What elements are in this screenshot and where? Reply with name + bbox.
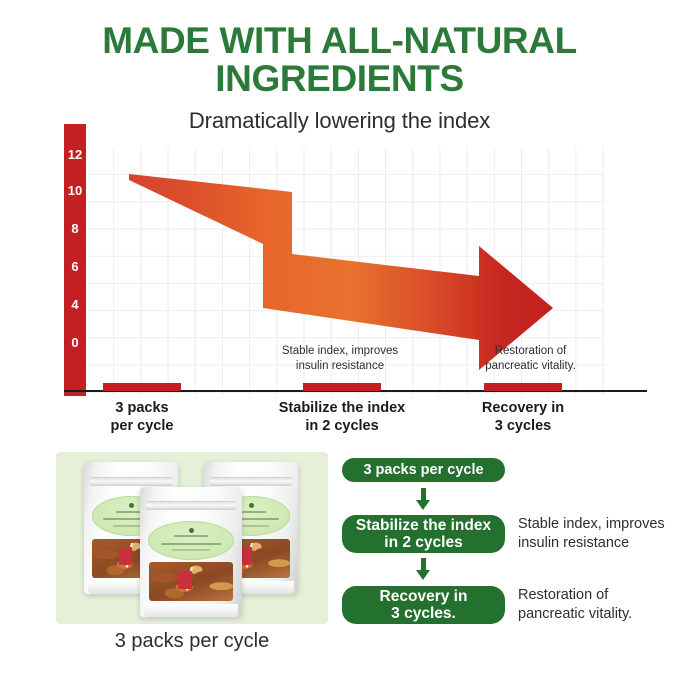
x-tick-mark-3: [484, 383, 562, 391]
flow-step-3-label-line2: 3 cycles.: [391, 605, 456, 622]
x-label-2-line1: Stabilize the index: [279, 400, 406, 416]
flow-step-3-label: Recovery in 3 cycles.: [380, 588, 468, 623]
y-tick-0: 0: [64, 336, 86, 349]
page-title-line2: INGREDIENTS: [36, 60, 643, 98]
flow-note-3-line2: pancreatic vitality.: [518, 606, 632, 622]
page-title-line1: MADE WITH ALL-NATURAL: [102, 20, 577, 61]
chart-annotation-1-line1: Stable index, improves: [282, 345, 398, 357]
brand-logo-icon: [129, 503, 134, 508]
flow-step-3[interactable]: Recovery in 3 cycles.: [342, 586, 505, 624]
arrow-head: [416, 570, 430, 580]
flow-note-2: Stable index, improves insulin resistanc…: [518, 515, 668, 554]
y-tick-4: 4: [64, 298, 86, 311]
index-chart: 12 10 8 6 4 0: [0, 118, 679, 438]
arrow-head: [416, 500, 430, 510]
chart-annotation-1: Stable index, improves insulin resistanc…: [245, 344, 435, 373]
pouch-label-weightline: [172, 549, 211, 551]
x-label-1: 3 packs per cycle: [82, 400, 202, 435]
x-label-1-line1: 3 packs: [115, 400, 168, 416]
flow-step-2[interactable]: Stabilize the index in 2 cycles: [342, 515, 505, 553]
flow-arrow-down-icon-1: [416, 488, 431, 510]
pouch-label: [148, 521, 234, 560]
x-tick-mark-2: [303, 383, 381, 391]
product-pouch-front: [140, 487, 242, 617]
pouch-label-brandline: [174, 535, 208, 537]
pouch-zip-seal: [90, 477, 173, 486]
chart-annotation-2-line1: Restoration of: [495, 345, 567, 357]
flow-step-1[interactable]: 3 packs per cycle: [342, 458, 505, 482]
flow-note-3-line1: Restoration of: [518, 587, 608, 603]
pouch-zip-seal: [210, 477, 293, 486]
flow-step-1-label: 3 packs per cycle: [363, 462, 483, 478]
flow-step-3-label-line1: Recovery in: [380, 588, 468, 605]
chart-annotation-1-line2: insulin resistance: [296, 360, 384, 372]
flow-note-2-line2: insulin resistance: [518, 535, 629, 551]
chart-annotation-2: Restoration of pancreatic vitality.: [438, 344, 623, 373]
x-tick-mark-1: [103, 383, 181, 391]
page-title: MADE WITH ALL-NATURAL INGREDIENTS: [0, 22, 679, 98]
y-tick-6: 6: [64, 260, 86, 273]
pouch-base: [144, 604, 238, 617]
flow-note-2-line1: Stable index, improves: [518, 516, 665, 532]
tea-bag-tag: [119, 547, 132, 565]
x-label-3: Recovery in 3 cycles: [448, 400, 598, 435]
pouch-label-productline: [161, 543, 221, 545]
x-label-2-line2: in 2 cycles: [305, 418, 378, 434]
flow-arrow-down-icon-2: [416, 558, 431, 580]
pouch-contents-window: [149, 562, 233, 601]
flow-step-2-label-line1: Stabilize the index: [356, 517, 491, 534]
x-label-1-line2: per cycle: [111, 418, 174, 434]
flow-note-3: Restoration of pancreatic vitality.: [518, 586, 668, 625]
x-label-3-line2: 3 cycles: [495, 418, 551, 434]
flow-step-2-label-line2: in 2 cycles: [384, 534, 462, 551]
pouch-zip-seal: [146, 501, 236, 510]
x-label-2: Stabilize the index in 2 cycles: [252, 400, 432, 435]
brand-logo-icon: [249, 503, 254, 508]
tea-bag-tag: [178, 571, 192, 589]
flow-step-2-label: Stabilize the index in 2 cycles: [356, 517, 491, 552]
y-tick-12: 12: [64, 148, 86, 161]
chart-annotation-2-line2: pancreatic vitality.: [485, 360, 576, 372]
y-tick-8: 8: [64, 222, 86, 235]
infographic-page: MADE WITH ALL-NATURAL INGREDIENTS Dramat…: [0, 0, 679, 679]
y-tick-10: 10: [64, 184, 86, 197]
brand-logo-icon: [189, 528, 194, 533]
product-panel-caption: 3 packs per cycle: [56, 630, 328, 653]
x-label-3-line1: Recovery in: [482, 400, 564, 416]
